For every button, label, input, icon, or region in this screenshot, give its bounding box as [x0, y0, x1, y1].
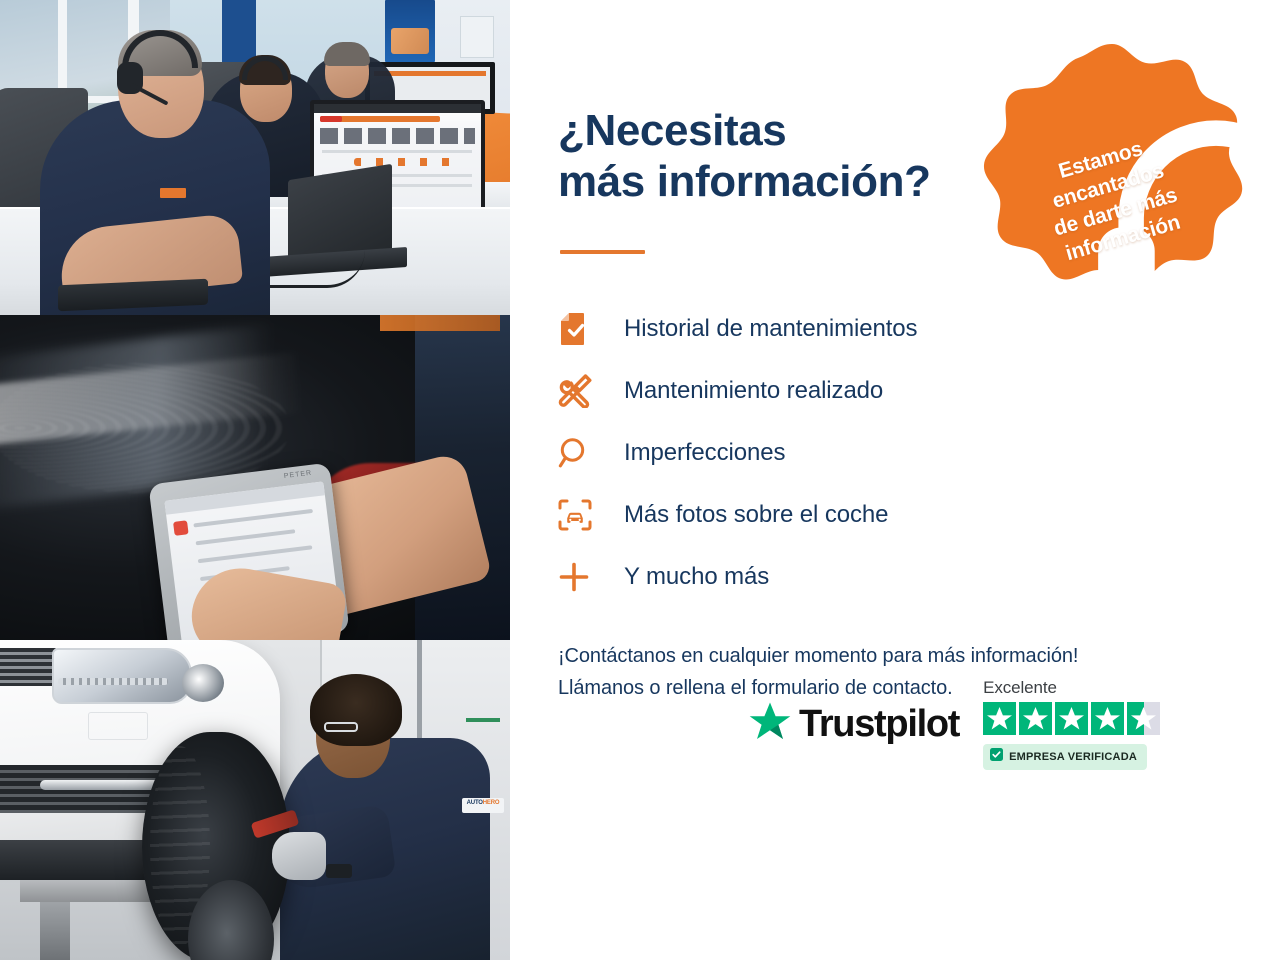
photo3-license-plate-area: [88, 712, 148, 740]
photo3-car-headlight: [52, 648, 192, 704]
trustpilot-rating-label: Excelente: [983, 678, 1057, 698]
patch-auto: AUTO: [467, 800, 483, 806]
photo1-screen-topbar: [314, 104, 481, 113]
photo3-car-grille: [0, 648, 60, 686]
feature-item-maintenance-history: Historial de mantenimientos: [558, 298, 1220, 360]
trustpilot-block[interactable]: Trustpilot Excelente: [748, 678, 1160, 770]
trustpilot-star-icon: [748, 701, 792, 748]
photo3-lift-post: [40, 902, 70, 960]
feature-item-imperfections: Imperfecciones: [558, 422, 1220, 484]
trustpilot-rating: Excelente: [983, 678, 1160, 770]
photo1-screen-redbar: [320, 116, 342, 122]
verified-company-label: EMPRESA VERIFICADA: [1009, 751, 1137, 763]
feature-label: Imperfecciones: [624, 439, 785, 467]
trustpilot-star-half: [1127, 702, 1160, 735]
feature-label: Historial de mantenimientos: [624, 315, 917, 343]
check-circle-icon: [990, 748, 1003, 766]
photo1-screen-icons: [354, 158, 464, 166]
photo2-tablet-row: [198, 545, 313, 563]
trustpilot-star-filled: [1019, 702, 1052, 735]
photo1-wall-notice: [460, 16, 494, 58]
car-photo-frame-icon: [558, 499, 608, 531]
plus-icon: [558, 561, 608, 593]
photo2-orange-accent: [380, 315, 500, 331]
photo3-tire: [142, 732, 290, 960]
page-title: ¿Necesitas más información?: [558, 105, 1018, 208]
promo-banner: AUTOHERO PETER: [0, 0, 1280, 960]
photo3-headlight-led-strip: [58, 678, 168, 685]
photo1-screen-car-thumbs: [320, 128, 475, 144]
photo3-headlight-lens: [182, 664, 224, 702]
call-center-agents-photo: [0, 0, 510, 315]
photo3-uniform-patch-text: AUTOHERO: [464, 800, 502, 806]
photo3-mechanic-glasses: [324, 722, 358, 732]
trustpilot-star-filled: [1091, 702, 1124, 735]
photo2-tablet-brand: PETER: [284, 470, 313, 480]
feature-item-maintenance-done: Mantenimiento realizado: [558, 360, 1220, 422]
feature-list: Historial de mantenimientos Mantenimient…: [558, 298, 1220, 608]
title-divider: [560, 250, 645, 254]
photo2-tablet-alert-icon: [173, 520, 189, 536]
photo-column: AUTOHERO PETER: [0, 0, 510, 960]
headline-line-2: más información?: [558, 157, 931, 206]
feature-label: Y mucho más: [624, 563, 769, 591]
photo3-wristwatch: [326, 864, 352, 878]
car-inspection-ruler-photo: AUTOHERO PETER: [0, 315, 510, 640]
badge-scalloped-shape: [980, 38, 1244, 302]
photo2-tablet-row: [193, 509, 313, 528]
contact-line-1: ¡Contáctanos en cualquier momento para m…: [558, 640, 1220, 672]
trustpilot-logo[interactable]: Trustpilot: [748, 701, 959, 748]
feature-item-much-more: Y mucho más: [558, 546, 1220, 608]
feature-label: Mantenimiento realizado: [624, 377, 883, 405]
workshop-tire-change-photo: AUTOHERO: [0, 640, 510, 960]
photo1-agent-1-logo-patch: [160, 188, 186, 198]
support-badge: Estamos encantados de darte más informac…: [980, 38, 1244, 302]
photo1-screen-row: [322, 150, 472, 153]
headline-line-1: ¿Necesitas: [558, 106, 786, 155]
trustpilot-wordmark: Trustpilot: [799, 703, 959, 746]
trustpilot-star-filled: [983, 702, 1016, 735]
photo1-wall-poster: [385, 0, 435, 62]
trustpilot-stars: [983, 702, 1160, 735]
photo3-mechanic-hair: [310, 674, 402, 746]
wrench-screwdriver-icon: [558, 374, 608, 408]
photo3-wall-marker: [466, 718, 500, 722]
feature-item-more-photos: Más fotos sobre el coche: [558, 484, 1220, 546]
photo3-work-glove: [272, 832, 326, 880]
magnifier-icon: [558, 437, 608, 469]
verified-company-badge: EMPRESA VERIFICADA: [983, 744, 1147, 770]
photo1-agent-3-hair: [324, 42, 370, 66]
photo2-tablet-row: [196, 529, 296, 545]
feature-label: Más fotos sobre el coche: [624, 501, 888, 529]
document-check-icon: [558, 313, 608, 345]
trustpilot-star-filled: [1055, 702, 1088, 735]
patch-hero: HERO: [483, 800, 500, 806]
